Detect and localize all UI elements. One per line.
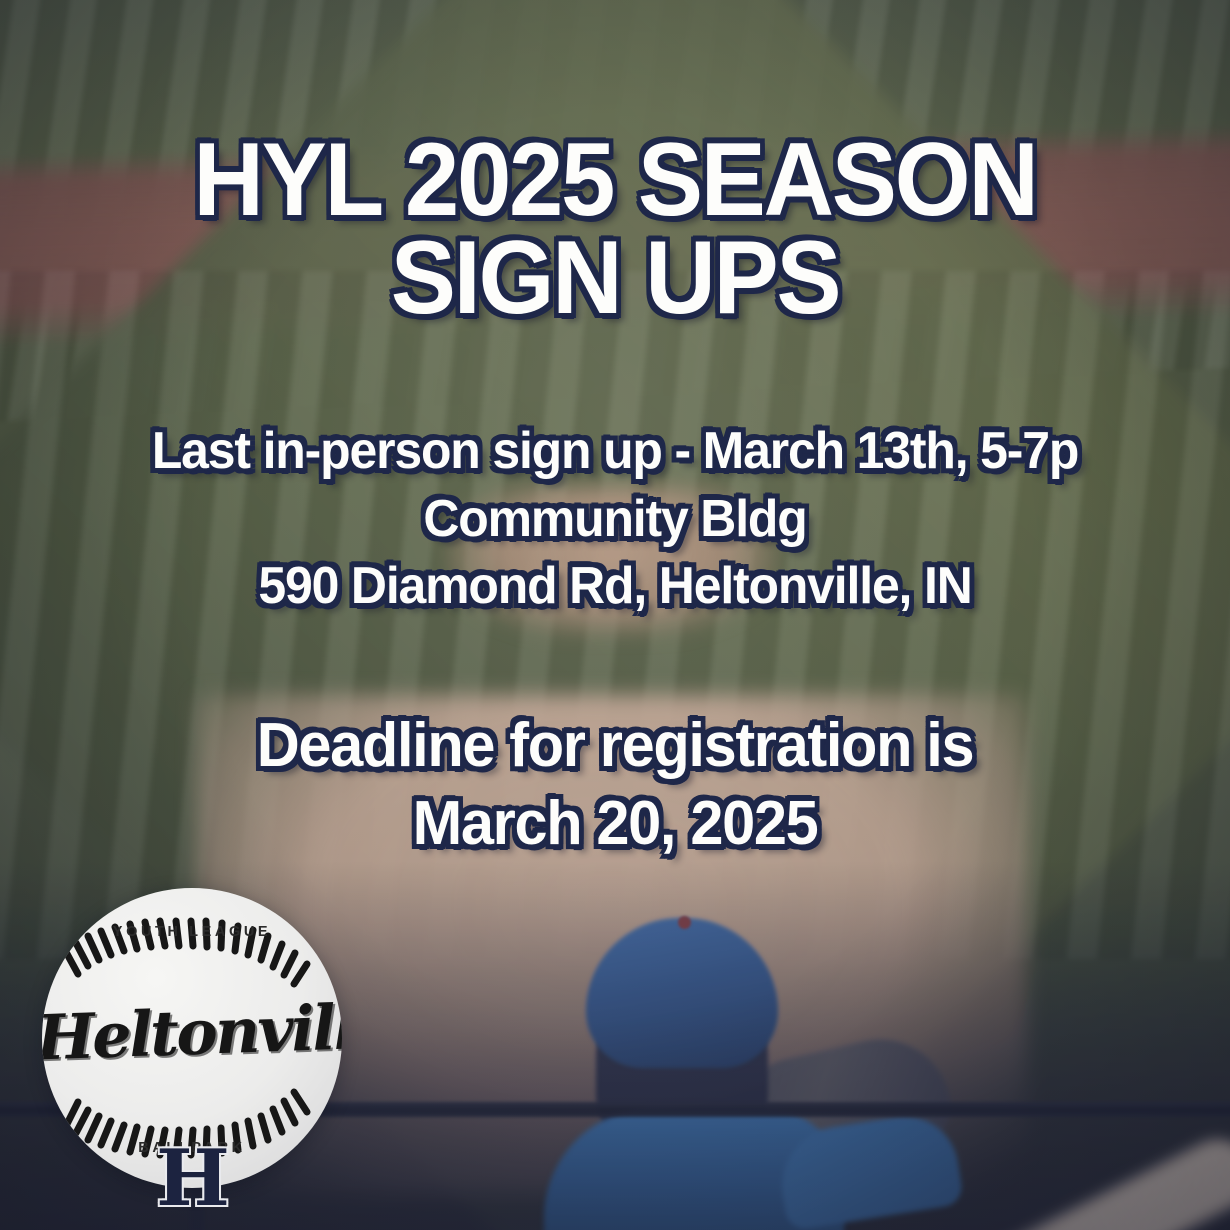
signup-details: Last in-person sign up - March 13th, 5-7… — [25, 418, 1206, 621]
headline-line-1: HYL 2025 SEASON — [37, 132, 1193, 230]
signup-address-line: 590 Diamond Rd, Heltonville, IN — [25, 553, 1206, 621]
registration-deadline: Deadline for registration is March 20, 2… — [25, 707, 1206, 863]
varsity-h-monogram: H — [42, 1140, 342, 1218]
logo-top-text: YOUTH LEAGUE — [42, 924, 342, 940]
deadline-date-line: March 20, 2025 — [25, 785, 1206, 863]
headline-line-2: SIGN UPS — [37, 230, 1193, 328]
poster: HYL 2025 SEASON SIGN UPS Last in-person … — [0, 0, 1230, 1230]
page-title: HYL 2025 SEASON SIGN UPS — [37, 132, 1193, 328]
signup-date-line: Last in-person sign up - March 13th, 5-7… — [25, 418, 1206, 486]
deadline-label-line: Deadline for registration is — [25, 707, 1206, 785]
signup-venue-line: Community Bldg — [25, 486, 1206, 554]
logo-script-text: Heltonville — [42, 991, 342, 1075]
